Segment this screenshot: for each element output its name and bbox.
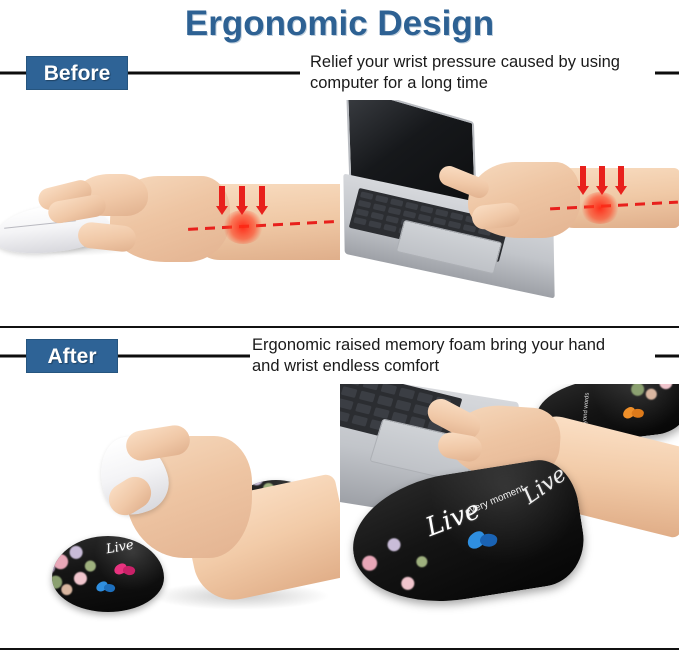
keyboard-key: [405, 202, 418, 210]
floral-pattern: [52, 540, 104, 602]
wrist-rest-round-main: Live: [52, 536, 164, 612]
butterfly-wing: [103, 583, 116, 594]
keyboard-key: [358, 200, 371, 208]
keyboard-key: [351, 415, 368, 427]
butterfly-wing: [479, 532, 498, 547]
arrow-stem: [618, 166, 624, 188]
pad-script-label: Live: [105, 538, 135, 558]
after-rule-right: [655, 355, 679, 358]
keyboard-key: [395, 400, 412, 412]
keyboard-key: [435, 209, 448, 217]
keyboard-key: [353, 217, 366, 225]
keyboard-key: [383, 224, 396, 232]
butterfly-wing: [631, 408, 644, 419]
keyboard-key: [371, 212, 384, 220]
pressure-hotspot: [580, 192, 620, 224]
panel-before-laptop: [340, 100, 679, 326]
arrow-head: [216, 206, 228, 215]
keyboard-key: [360, 191, 373, 199]
floral-pattern: [617, 384, 679, 408]
keyboard-key: [450, 212, 463, 220]
arrow-head: [236, 206, 248, 215]
keyboard-key: [373, 407, 390, 419]
keyboard-key: [375, 195, 388, 203]
keyboard-key: [403, 210, 416, 218]
keyboard-key: [388, 207, 401, 215]
keyboard-key: [386, 215, 399, 223]
keyboard-key: [355, 403, 372, 415]
keyboard-key: [420, 205, 433, 213]
title-bar: Ergonomic Design: [0, 0, 679, 46]
keyboard-key: [373, 203, 386, 211]
keyboard-key: [340, 398, 354, 410]
panel-after-laptop: & beyond words Live every moment Live: [340, 384, 679, 622]
panel-before-mouse: [0, 100, 340, 326]
keyboard-key: [381, 384, 398, 395]
arrow-head: [596, 186, 608, 195]
panel-after-mouse: & beyond words: [0, 384, 340, 622]
before-label-row: Before Relief your wrist pressure caused…: [0, 46, 679, 100]
arrow-stem: [219, 186, 225, 208]
arrow-head: [256, 206, 268, 215]
keyboard-key: [359, 391, 376, 403]
before-badge: Before: [26, 56, 128, 90]
arrow-head: [615, 186, 627, 195]
keyboard-key: [341, 386, 358, 398]
arrow-stem: [599, 166, 605, 188]
arrow-head: [577, 186, 589, 195]
infographic-page: Ergonomic Design Before Relief your wris…: [0, 0, 679, 650]
keyboard-key: [345, 384, 362, 386]
before-caption: Relief your wrist pressure caused by usi…: [310, 52, 660, 94]
before-panels: [0, 100, 679, 326]
butterfly-wing: [122, 564, 136, 576]
pressure-hotspot: [222, 210, 264, 244]
arrow-stem: [580, 166, 586, 188]
keyboard-key: [399, 388, 416, 400]
after-panels: & beyond words: [0, 384, 679, 622]
keyboard-key: [390, 198, 403, 206]
keyboard-key: [433, 217, 446, 225]
keyboard-key: [418, 214, 431, 222]
keyboard-key: [363, 384, 380, 390]
before-rule-right: [655, 72, 679, 75]
keyboard-key: [340, 410, 350, 422]
after-badge: After: [26, 339, 118, 373]
after-label-row: After Ergonomic raised memory foam bring…: [0, 328, 679, 384]
keyboard-key: [377, 395, 394, 407]
arrow-stem: [259, 186, 265, 208]
keyboard-key: [356, 208, 369, 216]
after-caption: Ergonomic raised memory foam bring your …: [252, 335, 662, 377]
arrow-stem: [239, 186, 245, 208]
keyboard-key: [448, 221, 461, 229]
keyboard-key: [368, 220, 381, 228]
page-title: Ergonomic Design: [0, 2, 679, 46]
